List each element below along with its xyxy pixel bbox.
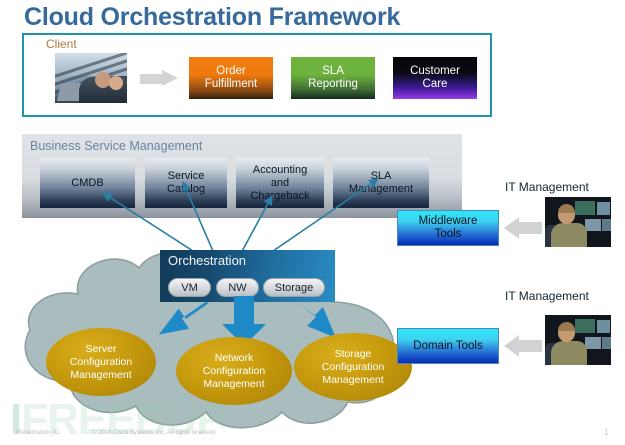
footer-presentation-id: Presentation_ID — [16, 430, 59, 436]
orchestration-pill-storage[interactable]: Storage — [263, 278, 325, 297]
node-storage-configuration-management[interactable]: Storage Configuration Management — [294, 333, 412, 401]
it-management-arrow-icon-2 — [504, 335, 542, 357]
watermark-text: FREEBUF — [21, 395, 222, 444]
service-label-line1: Order — [216, 65, 245, 78]
footer-page-number: 1 — [604, 428, 608, 437]
middleware-tools-box[interactable]: Middleware Tools — [397, 210, 499, 246]
it-management-arrow-icon-1 — [504, 217, 542, 239]
service-label-line1: SLA — [322, 65, 344, 78]
it-management-label-2: IT Management — [505, 289, 589, 303]
client-panel-label: Client — [46, 37, 77, 51]
tool-label-line2: Tools — [435, 228, 462, 241]
tool-label-line1: Domain Tools — [413, 340, 482, 353]
service-box-customer-care[interactable]: Customer Care — [393, 57, 477, 99]
it-management-label-1: IT Management — [505, 180, 589, 194]
orchestration-pill-nw[interactable]: NW — [216, 278, 259, 297]
client-photo — [55, 53, 127, 103]
domain-tools-box[interactable]: Domain Tools — [397, 328, 499, 364]
it-operator-photo-1 — [545, 197, 611, 247]
it-operator-photo-2 — [545, 315, 611, 365]
service-box-order-fulfillment[interactable]: Order Fulfillment — [189, 57, 273, 99]
node-label-line1: Storage — [335, 348, 372, 361]
watermark-prefix: I — [10, 395, 21, 444]
page-title: Cloud Orchestration Framework — [24, 3, 400, 32]
node-label-line1: Server — [86, 343, 117, 356]
orchestration-pill-vm[interactable]: VM — [168, 278, 211, 297]
node-label-line3: Management — [203, 378, 264, 391]
node-label-line1: Network — [215, 352, 254, 365]
node-label-line3: Management — [70, 369, 131, 382]
service-label-line1: Customer — [410, 65, 460, 78]
service-label-line2: Fulfillment — [205, 78, 257, 91]
footer-copyright: © 2008 Cisco Systems, Inc. All rights re… — [92, 430, 217, 436]
tool-label-line1: Middleware — [419, 215, 478, 228]
node-label-line2: Configuration — [70, 356, 132, 369]
client-flow-arrow-icon — [140, 70, 178, 87]
service-box-sla-reporting[interactable]: SLA Reporting — [291, 57, 375, 99]
orchestration-title: Orchestration — [168, 253, 246, 268]
node-label-line2: Configuration — [203, 365, 265, 378]
service-label-line2: Care — [423, 78, 448, 91]
node-label-line2: Configuration — [322, 361, 384, 374]
node-label-line3: Management — [322, 374, 383, 387]
service-label-line2: Reporting — [308, 78, 358, 91]
node-server-configuration-management[interactable]: Server Configuration Management — [46, 328, 156, 396]
freebuf-watermark: IFREEBUF — [10, 395, 222, 445]
